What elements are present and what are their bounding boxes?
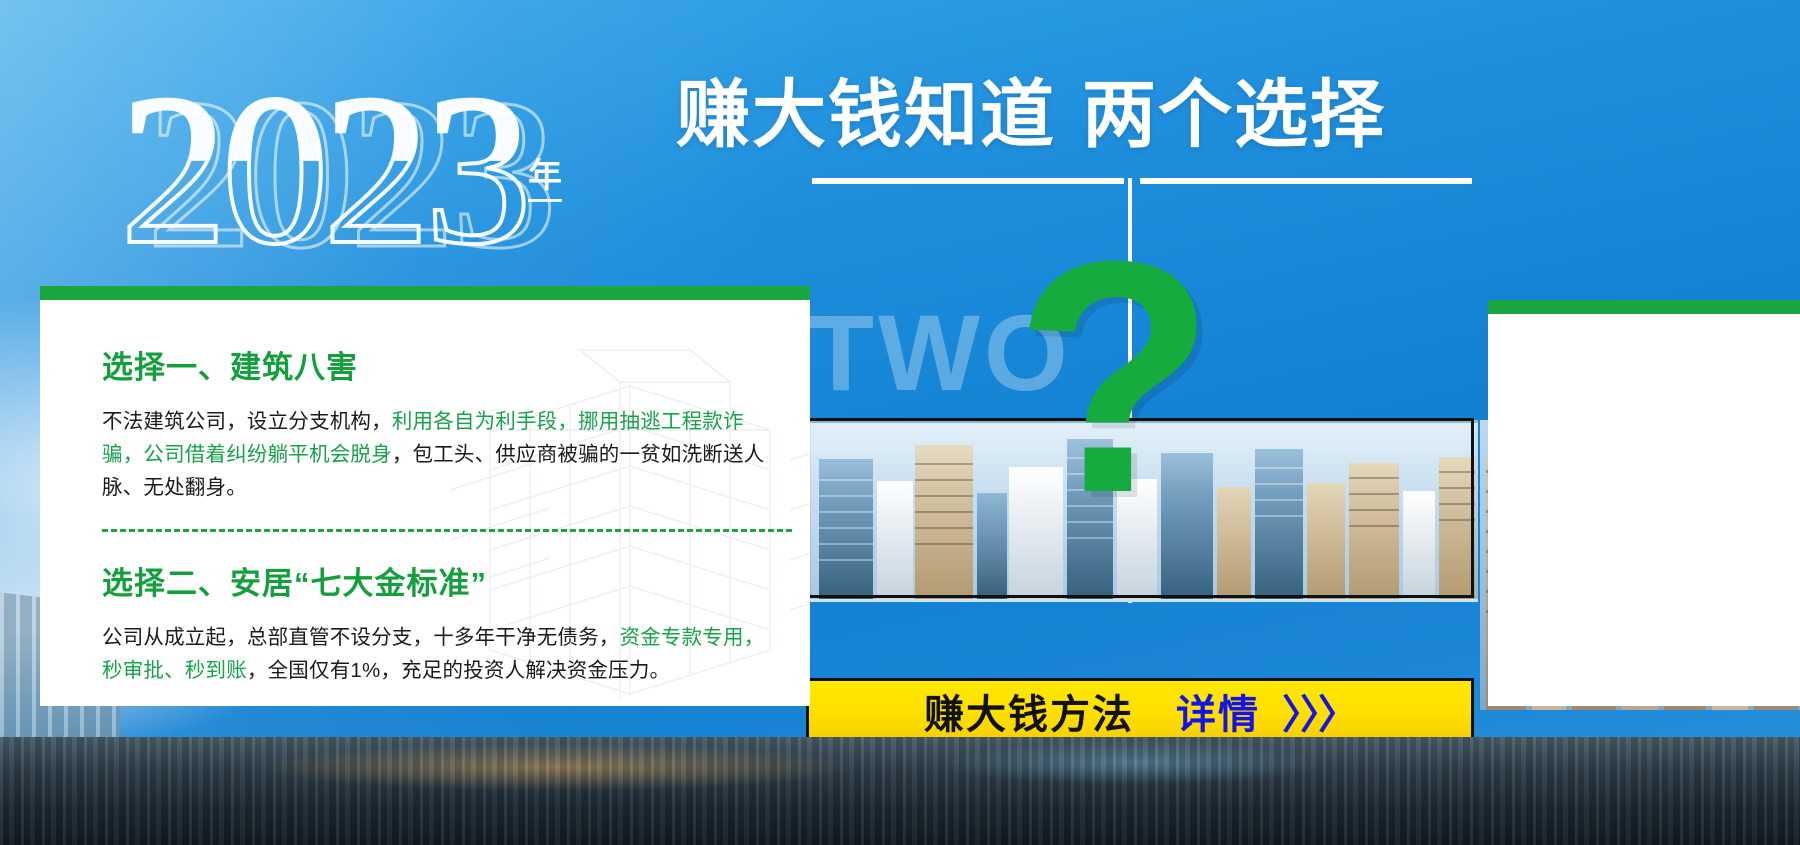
question-mark-icon: ? [1014,212,1216,542]
section-1-body: 不法建筑公司，设立分支机构，利用各自为利手段，挪用抽逃工程款诈骗，公司借着纠纷躺… [102,405,770,505]
content-card: 选择一、建筑八害 不法建筑公司，设立分支机构，利用各自为利手段，挪用抽逃工程款诈… [40,300,810,706]
right-white-panel [1488,314,1800,706]
section-1-title: 选择一、建筑八害 [102,342,770,387]
cta-banner[interactable]: 赚大钱方法 详情 〉〉〉 [806,678,1474,744]
right-green-bar [1488,300,1800,314]
section-2-body: 公司从成立起，总部直管不设分支，十多年干净无债务，资金专款专用，秒审批、秒到账，… [102,621,770,687]
headline-rule-right [1140,178,1472,184]
chevron-right-icon: 〉〉〉 [1282,682,1356,740]
cta-main-label: 赚大钱方法 [924,682,1134,740]
section-2-title: 选择二、安居“七大金标准” [102,558,770,603]
cta-detail-link[interactable]: 详情 [1176,682,1260,740]
year-suffix: 年 [528,148,562,202]
bottom-city-strip [0,737,1800,845]
section-1-run-1: 不法建筑公司，设立分支机构， [102,410,392,433]
headline-rule-left [812,178,1124,184]
headline-right: 两个选择 [1082,73,1386,156]
card-content: 选择一、建筑八害 不法建筑公司，设立分支机构，利用各自为利手段，挪用抽逃工程款诈… [40,300,810,706]
card-accent-bar [40,286,810,300]
bottom-glow-warm [252,743,864,791]
poster-canvas: 2023 2023 2023 年 赚大钱知道两个选择 TWO CHOICES [0,0,1800,845]
bottom-glow-cool [936,741,1332,785]
year-badge: 2023 2023 2023 [120,62,720,272]
year-ghost: 2023 [146,66,552,281]
headline-left: 赚大钱知道 [676,73,1056,156]
section-divider [102,529,792,532]
page-title: 赚大钱知道两个选择 [676,78,1386,152]
section-2-run-1: 公司从成立起，总部直管不设分支，十多年干净无债务， [102,626,620,649]
section-2-run-3: ，全国仅有1%，充足的投资人解决资金压力。 [247,659,670,682]
